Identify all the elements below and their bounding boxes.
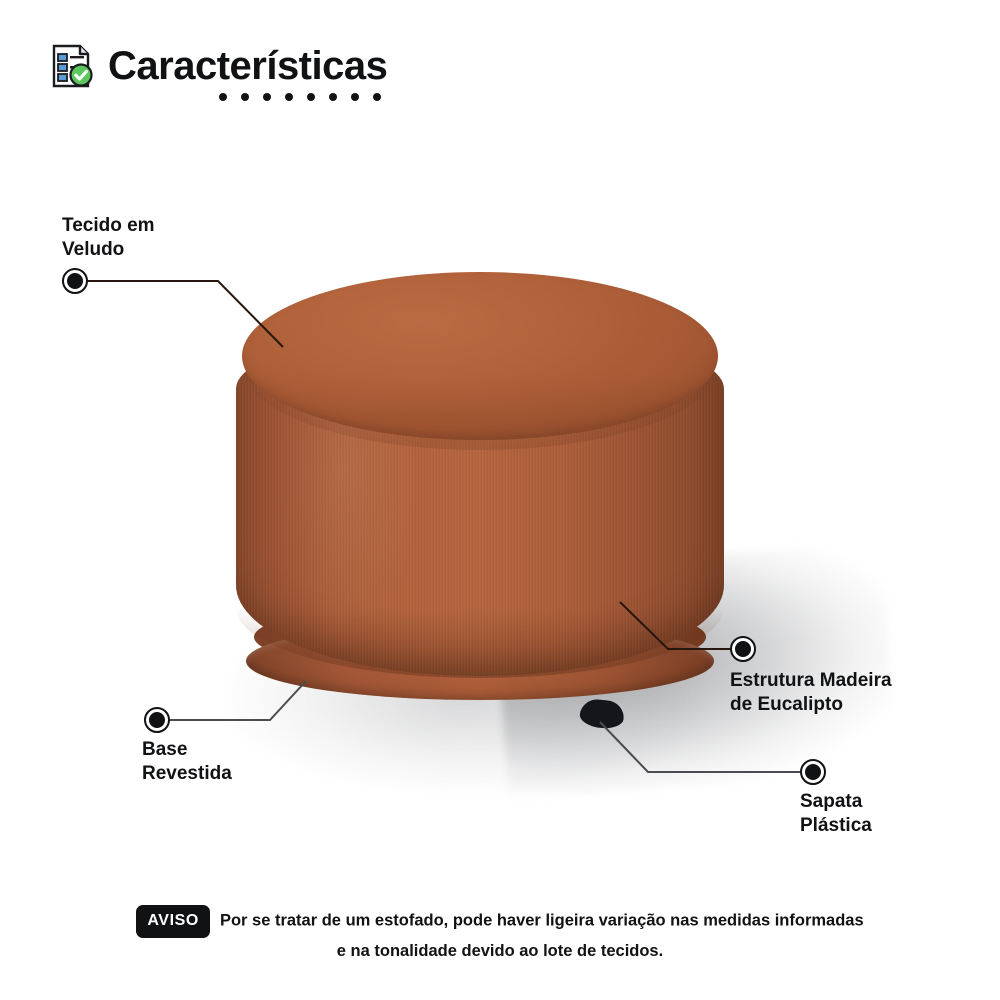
divider-dot <box>329 93 337 101</box>
ottoman-top-rim <box>242 282 718 450</box>
divider-dot <box>263 93 271 101</box>
round-velvet-ottoman <box>228 270 732 690</box>
callout-marker-tecido-em-veludo[interactable] <box>62 268 88 294</box>
marker-dot <box>67 273 83 289</box>
divider-dot <box>307 93 315 101</box>
marker-dot <box>805 764 821 780</box>
notice-block: AVISOPor se tratar de um estofado, pode … <box>0 905 1000 964</box>
divider-dot <box>241 93 249 101</box>
callout-label-estrutura-madeira: Estrutura Madeira de Eucalipto <box>730 669 892 717</box>
callout-label-base-revestida: Base Revestida <box>142 738 232 786</box>
header: Características <box>50 42 387 90</box>
callout-marker-estrutura-madeira[interactable] <box>730 636 756 662</box>
marker-dot <box>149 712 165 728</box>
notice-text-1: Por se tratar de um estofado, pode haver… <box>220 912 864 930</box>
characteristics-infographic: Características <box>0 0 1000 1000</box>
header-dot-divider <box>219 93 381 101</box>
callout-label-sapata-plastica: Sapata Plástica <box>800 790 872 838</box>
document-check-icon <box>50 42 94 90</box>
notice-line-2: e na tonalidade devido ao lote de tecido… <box>0 938 1000 964</box>
page-title: Características <box>108 46 387 86</box>
callout-label-tecido-em-veludo: Tecido em Veludo <box>62 214 155 262</box>
callout-marker-base-revestida[interactable] <box>144 707 170 733</box>
divider-dot <box>351 93 359 101</box>
divider-dot <box>373 93 381 101</box>
divider-dot <box>285 93 293 101</box>
callout-marker-sapata-plastica[interactable] <box>800 759 826 785</box>
divider-dot <box>219 93 227 101</box>
notice-line-1: AVISOPor se tratar de um estofado, pode … <box>0 905 1000 938</box>
notice-badge: AVISO <box>136 905 210 938</box>
marker-dot <box>735 641 751 657</box>
